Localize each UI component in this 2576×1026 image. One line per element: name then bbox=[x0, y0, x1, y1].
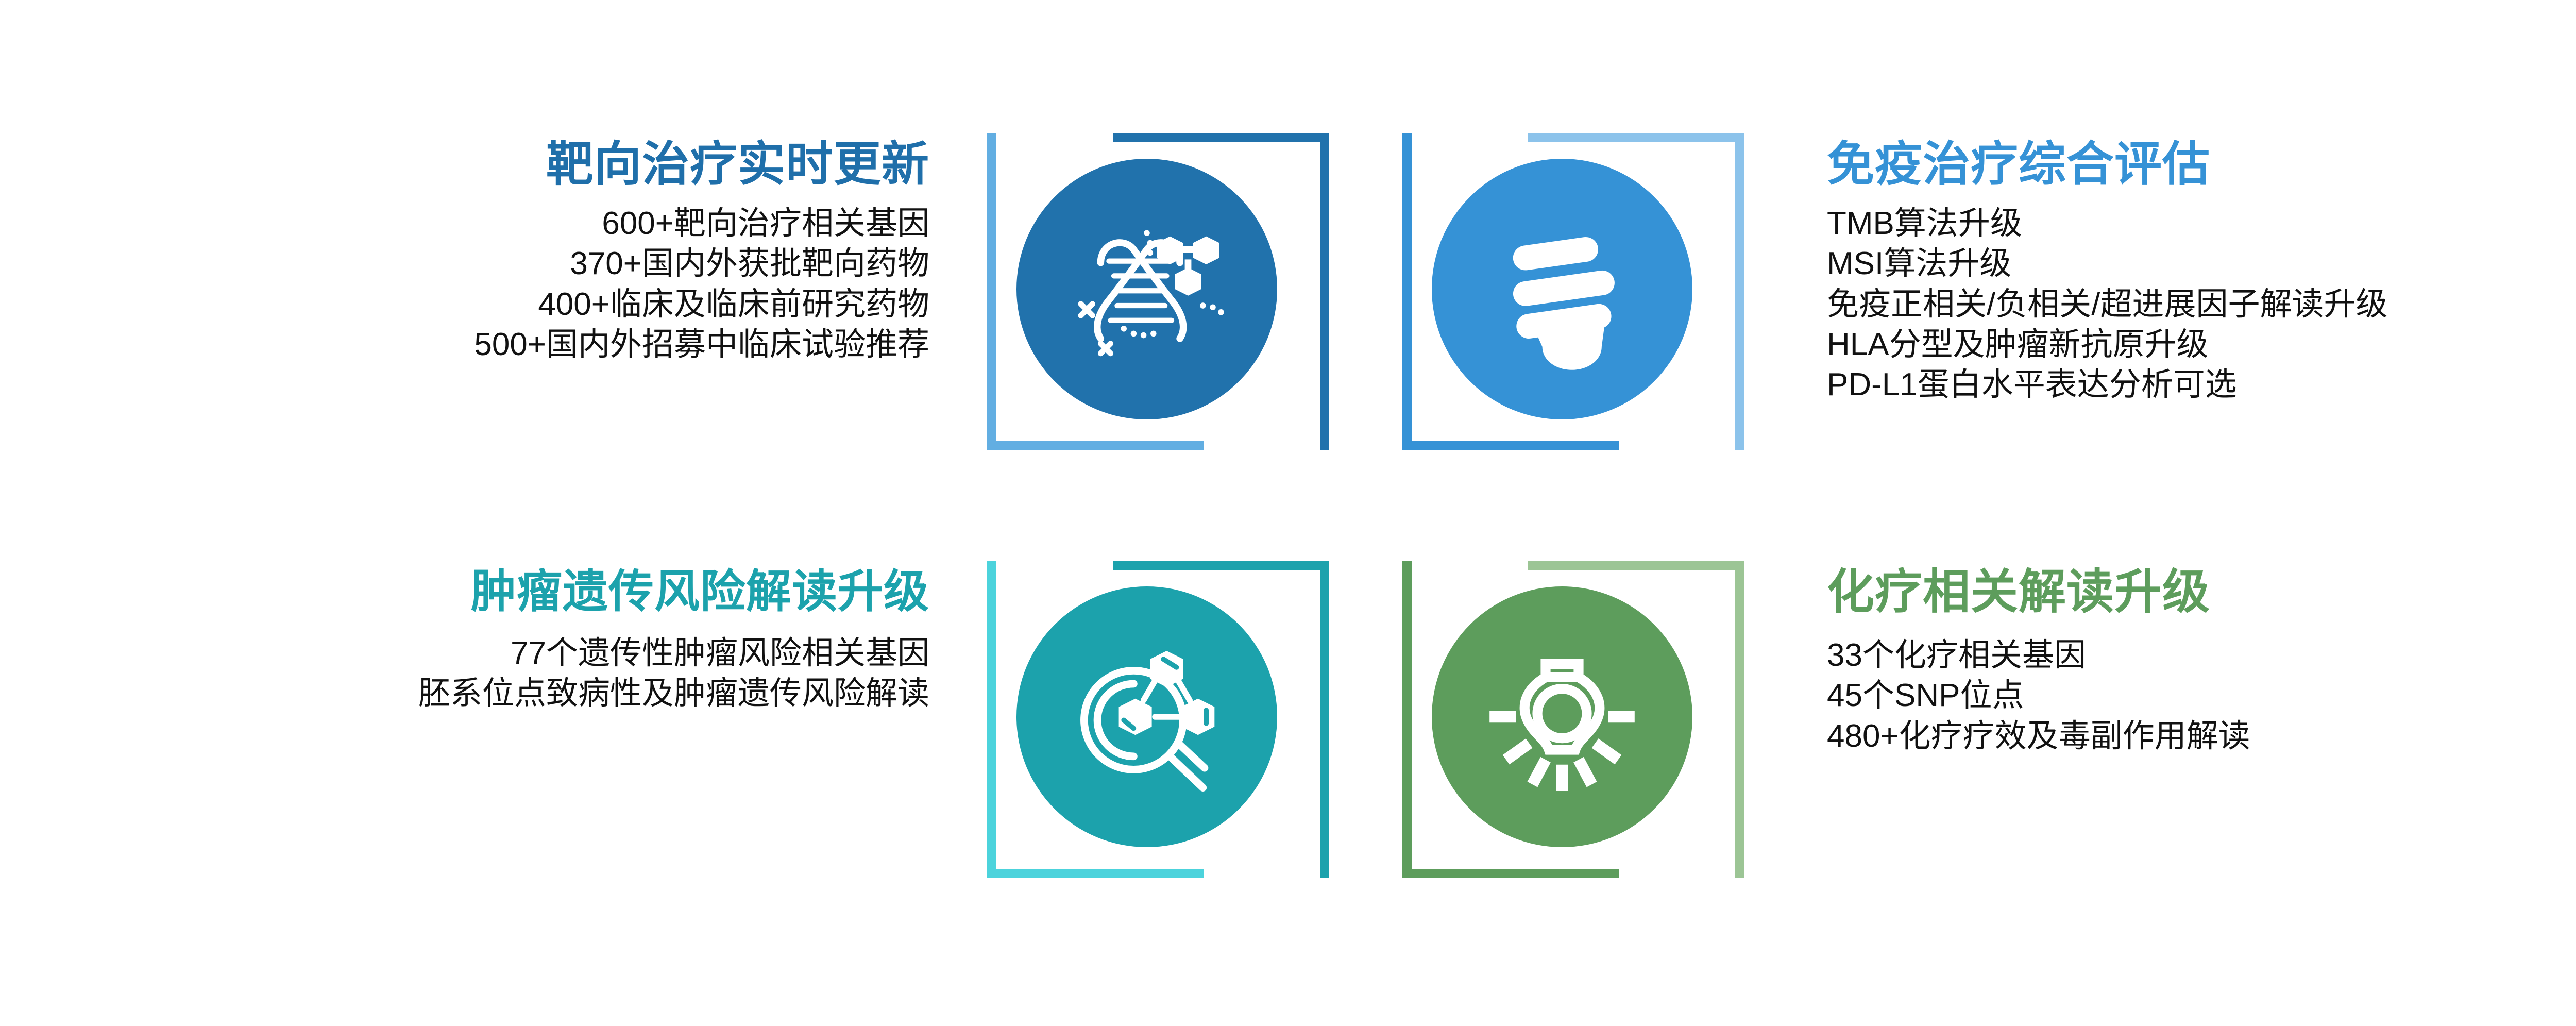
spiral-lightbulb-icon bbox=[1480, 207, 1645, 372]
frame-bar-bottom bbox=[1402, 441, 1619, 450]
panel-hereditary-risk-lines: 77个遗传性肿瘤风险相关基因 胚系位点致病性及肿瘤遗传风险解读 bbox=[0, 633, 929, 714]
frame-bar-right bbox=[1320, 561, 1329, 878]
list-item: 600+靶向治疗相关基因 bbox=[0, 204, 929, 244]
list-item: 77个遗传性肿瘤风险相关基因 bbox=[0, 633, 929, 674]
frame-bar-top bbox=[1113, 561, 1329, 570]
list-item: PD-L1蛋白水平表达分析可选 bbox=[1827, 365, 2576, 405]
dna-molecule-icon bbox=[1064, 207, 1229, 372]
frame-bar-left bbox=[1402, 133, 1412, 450]
icon-circle bbox=[1432, 586, 1692, 847]
frame-bar-left bbox=[987, 133, 996, 450]
icon-cell-dna-molecule bbox=[958, 119, 1374, 479]
list-item: 500+国内外招募中临床试验推荐 bbox=[0, 325, 929, 365]
list-item: 胚系位点致病性及肿瘤遗传风险解读 bbox=[0, 674, 929, 714]
list-item: HLA分型及肿瘤新抗原升级 bbox=[1827, 325, 2576, 365]
list-item: 33个化疗相关基因 bbox=[1827, 635, 2576, 676]
panel-targeted-therapy-heading: 靶向治疗实时更新 bbox=[0, 139, 929, 190]
row-bottom: 肿瘤遗传风险解读升级 77个遗传性肿瘤风险相关基因 胚系位点致病性及肿瘤遗传风险… bbox=[0, 546, 2576, 953]
panel-immunotherapy-heading: 免疫治疗综合评估 bbox=[1827, 139, 2576, 190]
row-top: 靶向治疗实时更新 600+靶向治疗相关基因 370+国内外获批靶向药物 400+… bbox=[0, 119, 2576, 526]
frame-bar-left bbox=[1402, 561, 1412, 878]
icon-circle bbox=[1016, 159, 1277, 419]
icon-circle bbox=[1016, 586, 1277, 847]
panel-immunotherapy: 免疫治疗综合评估 TMB算法升级 MSI算法升级 免疫正相关/负相关/超进展因子… bbox=[1789, 119, 2576, 405]
list-item: 480+化疗疗效及毒副作用解读 bbox=[1827, 716, 2576, 756]
panel-targeted-therapy-lines: 600+靶向治疗相关基因 370+国内外获批靶向药物 400+临床及临床前研究药… bbox=[0, 204, 929, 364]
list-item: 免疫正相关/负相关/超进展因子解读升级 bbox=[1827, 284, 2576, 325]
frame-bar-bottom bbox=[1402, 869, 1619, 878]
panel-targeted-therapy: 靶向治疗实时更新 600+靶向治疗相关基因 370+国内外获批靶向药物 400+… bbox=[0, 119, 958, 365]
frame-bar-right bbox=[1320, 133, 1329, 450]
frame-bar-top bbox=[1528, 133, 1744, 142]
frame-bar-top bbox=[1113, 133, 1329, 142]
magnifier-molecule-icon bbox=[1064, 634, 1229, 799]
list-item: 400+临床及临床前研究药物 bbox=[0, 284, 929, 325]
panel-chemotherapy-heading: 化疗相关解读升级 bbox=[1827, 567, 2576, 618]
frame-bar-left bbox=[987, 561, 996, 878]
icon-cell-magnifier-molecule bbox=[958, 546, 1374, 907]
icons-pair-top bbox=[958, 119, 1789, 479]
frame-bar-right bbox=[1735, 133, 1744, 450]
list-item: TMB算法升级 bbox=[1827, 204, 2576, 244]
panel-hereditary-risk: 肿瘤遗传风险解读升级 77个遗传性肿瘤风险相关基因 胚系位点致病性及肿瘤遗传风险… bbox=[0, 546, 958, 714]
infographic-board: 靶向治疗实时更新 600+靶向治疗相关基因 370+国内外获批靶向药物 400+… bbox=[0, 0, 2576, 1026]
panel-hereditary-risk-heading: 肿瘤遗传风险解读升级 bbox=[0, 567, 929, 616]
frame-bar-bottom bbox=[987, 441, 1204, 450]
panel-immunotherapy-lines: TMB算法升级 MSI算法升级 免疫正相关/负相关/超进展因子解读升级 HLA分… bbox=[1827, 204, 2576, 405]
list-item: 370+国内外获批靶向药物 bbox=[0, 244, 929, 284]
icons-pair-bottom bbox=[958, 546, 1789, 907]
list-item: MSI算法升级 bbox=[1827, 244, 2576, 284]
panel-chemotherapy-lines: 33个化疗相关基因 45个SNP位点 480+化疗疗效及毒副作用解读 bbox=[1827, 635, 2576, 756]
icon-cell-spiral-bulb bbox=[1374, 119, 1789, 479]
frame-bar-bottom bbox=[987, 869, 1204, 878]
glowing-lightbulb-icon bbox=[1480, 634, 1645, 799]
list-item: 45个SNP位点 bbox=[1827, 676, 2576, 716]
panel-chemotherapy: 化疗相关解读升级 33个化疗相关基因 45个SNP位点 480+化疗疗效及毒副作… bbox=[1789, 546, 2576, 756]
frame-bar-right bbox=[1735, 561, 1744, 878]
icon-circle bbox=[1432, 159, 1692, 419]
frame-bar-top bbox=[1528, 561, 1744, 570]
icon-cell-glowing-bulb bbox=[1374, 546, 1789, 907]
